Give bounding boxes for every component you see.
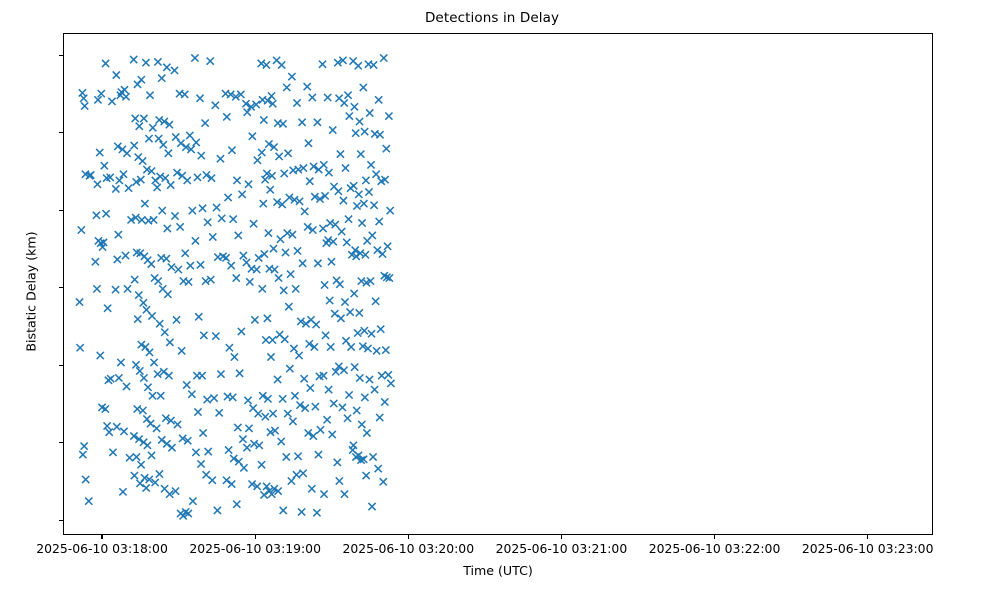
scatter-point — [96, 149, 103, 156]
scatter-point — [278, 438, 285, 445]
x-tick-mark — [255, 535, 256, 539]
scatter-point — [379, 250, 386, 257]
scatter-point — [328, 258, 335, 265]
scatter-point — [258, 149, 265, 156]
x-tick-label: 2025-06-10 03:20:00 — [342, 541, 474, 556]
scatter-point — [156, 470, 163, 477]
scatter-point — [350, 182, 357, 189]
scatter-point — [196, 95, 203, 102]
scatter-point — [184, 177, 191, 184]
scatter-point — [260, 200, 267, 207]
scatter-point — [161, 329, 168, 336]
scatter-point — [199, 205, 206, 212]
scatter-point — [336, 477, 343, 484]
y-tick-mark — [59, 210, 63, 211]
scatter-point — [171, 67, 178, 74]
scatter-point — [238, 328, 245, 335]
scatter-point — [361, 327, 368, 334]
scatter-point — [132, 361, 139, 368]
scatter-point — [173, 316, 180, 323]
scatter-point — [320, 161, 327, 168]
scatter-point — [387, 380, 394, 387]
scatter-point — [233, 501, 240, 508]
scatter-point — [204, 219, 211, 226]
scatter-point — [122, 252, 129, 259]
scatter-point — [155, 135, 162, 142]
scatter-point — [134, 315, 141, 322]
scatter-point — [217, 155, 224, 162]
scatter-point — [156, 320, 163, 327]
scatter-point — [280, 507, 287, 514]
scatter-point — [294, 453, 301, 460]
scatter-point — [160, 368, 167, 375]
scatter-point — [102, 60, 109, 67]
scatter-point — [368, 503, 375, 510]
scatter-point — [123, 383, 130, 390]
scatter-point — [131, 472, 138, 479]
scatter-point — [172, 133, 179, 140]
scatter-point — [305, 140, 312, 147]
scatter-point — [181, 91, 188, 98]
scatter-point — [383, 145, 390, 152]
scatter-point — [81, 443, 88, 450]
scatter-point — [104, 305, 111, 312]
scatter-point — [368, 330, 375, 337]
scatter-point — [382, 346, 389, 353]
scatter-point — [158, 436, 165, 443]
scatter-point — [269, 410, 276, 417]
scatter-point — [363, 472, 370, 479]
scatter-point — [361, 128, 368, 135]
scatter-point — [160, 141, 167, 148]
scatter-point — [321, 281, 328, 288]
scatter-point — [131, 142, 138, 149]
scatter-point — [314, 119, 321, 126]
scatter-point — [356, 309, 363, 316]
scatter-point — [103, 210, 110, 217]
scatter-point — [212, 102, 219, 109]
scatter-point — [167, 181, 174, 188]
scatter-point — [375, 465, 382, 472]
scatter-point — [228, 480, 235, 487]
scatter-point — [264, 315, 271, 322]
scatter-point — [370, 202, 377, 209]
scatter-point — [319, 61, 326, 68]
scatter-point — [291, 392, 298, 399]
scatter-point — [233, 274, 240, 281]
scatter-point — [345, 391, 352, 398]
scatter-point — [326, 297, 333, 304]
scatter-point — [259, 285, 266, 292]
scatter-point — [234, 424, 241, 431]
scatter-point — [131, 276, 138, 283]
scatter-point — [200, 332, 207, 339]
scatter-point — [154, 58, 161, 65]
scatter-point — [320, 491, 327, 498]
scatter-point — [123, 150, 130, 157]
scatter-point — [325, 386, 332, 393]
scatter-point — [358, 219, 365, 226]
scatter-point — [150, 359, 157, 366]
scatter-point — [276, 153, 283, 160]
x-tick-label: 2025-06-10 03:18:00 — [36, 541, 168, 556]
scatter-point — [293, 471, 300, 478]
scatter-point — [209, 233, 216, 240]
scatter-point — [92, 258, 99, 265]
scatter-point — [193, 139, 200, 146]
scatter-point — [93, 285, 100, 292]
scatter-point — [138, 76, 145, 83]
scatter-point — [213, 204, 220, 211]
scatter-point — [142, 59, 149, 66]
scatter-point — [79, 451, 86, 458]
scatter-point — [132, 115, 139, 122]
scatter-point — [353, 407, 360, 414]
scatter-point — [269, 336, 276, 343]
scatter-point — [235, 232, 242, 239]
scatter-point — [133, 453, 140, 460]
scatter-point — [174, 421, 181, 428]
scatter-point — [351, 290, 358, 297]
scatter-point — [126, 454, 133, 461]
scatter-point — [214, 507, 221, 514]
scatter-point — [122, 93, 129, 100]
scatter-point — [136, 367, 143, 374]
scatter-point — [279, 395, 286, 402]
scatter-point — [331, 310, 338, 317]
scatter-series — [76, 54, 395, 519]
y-tick-mark — [59, 442, 63, 443]
scatter-point — [340, 197, 347, 204]
scatter-point — [313, 509, 320, 516]
scatter-point — [343, 239, 350, 246]
scatter-point — [233, 177, 240, 184]
scatter-point — [124, 285, 131, 292]
scatter-point — [267, 353, 274, 360]
scatter-point — [301, 208, 308, 215]
scatter-point — [360, 84, 367, 91]
scatter-point — [80, 95, 87, 102]
scatter-point — [223, 113, 230, 120]
scatter-point — [385, 371, 392, 378]
scatter-point — [360, 200, 367, 207]
scatter-point — [148, 312, 155, 319]
scatter-point — [144, 384, 151, 391]
scatter-point — [115, 231, 122, 238]
scatter-point — [295, 352, 302, 359]
scatter-point — [243, 259, 250, 266]
scatter-point — [376, 218, 383, 225]
scatter-point — [143, 484, 150, 491]
scatter-point — [148, 452, 155, 459]
scatter-point — [216, 409, 223, 416]
scatter-point — [279, 120, 286, 127]
scatter-point — [218, 215, 225, 222]
scatter-point — [191, 54, 198, 61]
scatter-point — [143, 415, 150, 422]
scatter-point — [258, 461, 265, 468]
scatter-point — [198, 372, 205, 379]
scatter-point — [277, 236, 284, 243]
scatter-point — [76, 298, 83, 305]
x-tick-label: 2025-06-10 03:23:00 — [802, 541, 934, 556]
scatter-point — [324, 416, 331, 423]
scatter-point — [283, 453, 290, 460]
scatter-point — [186, 132, 193, 139]
scatter-point — [81, 102, 88, 109]
scatter-point — [147, 420, 154, 427]
scatter-point — [372, 298, 379, 305]
scatter-point — [249, 133, 256, 140]
scatter-point — [210, 395, 217, 402]
scatter-point — [204, 396, 211, 403]
scatter-point — [380, 478, 387, 485]
scatter-point — [117, 359, 124, 366]
scatter-point — [373, 347, 380, 354]
scatter-point — [246, 278, 253, 285]
scatter-point — [119, 488, 126, 495]
scatter-point — [164, 225, 171, 232]
y-tick-mark — [59, 365, 63, 366]
scatter-point — [113, 423, 120, 430]
scatter-point — [357, 150, 364, 157]
scatter-point — [154, 184, 161, 191]
scatter-point — [313, 321, 320, 328]
matplotlib-figure: Detections in Delay 2025-06-10 03:18:002… — [0, 0, 984, 590]
scatter-point — [274, 376, 281, 383]
scatter-point — [336, 281, 343, 288]
scatter-point — [245, 425, 252, 432]
scatter-point — [369, 453, 376, 460]
scatter-point — [253, 266, 260, 273]
scatter-point — [355, 62, 362, 69]
scatter-point — [262, 336, 269, 343]
scatter-point — [189, 498, 196, 505]
scatter-point — [212, 333, 219, 340]
scatter-point — [150, 216, 157, 223]
scatter-point — [164, 291, 171, 298]
scatter-point — [168, 444, 175, 451]
scatter-point — [378, 372, 385, 379]
scatter-point — [125, 185, 132, 192]
scatter-point — [146, 349, 153, 356]
scatter-point — [188, 391, 195, 398]
scatter-point — [141, 200, 148, 207]
scatter-point — [351, 103, 358, 110]
scatter-point — [97, 352, 104, 359]
scatter-point — [209, 477, 216, 484]
x-tick-mark — [867, 535, 868, 539]
scatter-point — [327, 343, 334, 350]
scatter-point — [325, 169, 332, 176]
scatter-point — [370, 61, 377, 68]
y-tick-mark — [59, 287, 63, 288]
scatter-point — [283, 84, 290, 91]
scatter-point — [136, 123, 143, 130]
scatter-point — [324, 94, 331, 101]
x-tick-label: 2025-06-10 03:22:00 — [649, 541, 781, 556]
scatter-point — [353, 202, 360, 209]
scatter-point — [287, 271, 294, 278]
scatter-point — [262, 176, 269, 183]
scatter-point — [387, 207, 394, 214]
scatter-point — [240, 252, 247, 259]
scatter-point — [323, 240, 330, 247]
scatter-point — [308, 485, 315, 492]
x-tick-mark — [714, 535, 715, 539]
scatter-point — [292, 285, 299, 292]
scatter-point — [294, 247, 301, 254]
scatter-point — [138, 216, 145, 223]
scatter-point — [280, 287, 287, 294]
y-axis-label: Bistatic Delay (km) — [24, 182, 39, 402]
scatter-point — [199, 429, 206, 436]
scatter-point — [225, 446, 232, 453]
scatter-point — [207, 58, 214, 65]
scatter-point — [192, 237, 199, 244]
scatter-point — [239, 191, 246, 198]
scatter-point — [341, 298, 348, 305]
scatter-point — [335, 188, 342, 195]
scatter-point — [293, 99, 300, 106]
scatter-point — [300, 470, 307, 477]
scatter-point — [130, 56, 137, 63]
scatter-point — [337, 150, 344, 157]
scatter-point — [346, 309, 353, 316]
scatter-point — [361, 394, 368, 401]
x-axis-label: Time (UTC) — [63, 563, 933, 578]
scatter-point — [171, 212, 178, 219]
scatter-point — [144, 442, 151, 449]
scatter-point — [371, 386, 378, 393]
scatter-point — [284, 410, 291, 417]
scatter-point — [240, 464, 247, 471]
scatter-point — [317, 426, 324, 433]
scatter-point — [354, 329, 361, 336]
scatter-point — [108, 98, 115, 105]
scatter-point — [315, 451, 322, 458]
scatter-point — [355, 191, 362, 198]
scatter-point — [217, 370, 224, 377]
scatter-point — [154, 370, 161, 377]
scatter-point — [153, 425, 160, 432]
x-tick-label: 2025-06-10 03:21:00 — [496, 541, 628, 556]
scatter-point — [265, 229, 272, 236]
scatter-point — [288, 477, 295, 484]
scatter-point — [385, 113, 392, 120]
scatter-point — [107, 375, 114, 382]
scatter-point — [339, 404, 346, 411]
scatter-point — [197, 261, 204, 268]
scatter-point — [139, 157, 146, 164]
scatter-point — [285, 303, 292, 310]
scatter-point — [290, 345, 297, 352]
scatter-point — [229, 394, 236, 401]
scatter-point — [307, 384, 314, 391]
scatter-points-layer — [64, 34, 934, 536]
scatter-point — [137, 461, 144, 468]
scatter-point — [115, 374, 122, 381]
scatter-point — [155, 278, 162, 285]
scatter-point — [262, 413, 269, 420]
scatter-point — [275, 274, 282, 281]
scatter-point — [245, 181, 252, 188]
scatter-point — [101, 162, 108, 169]
x-tick-mark — [408, 535, 409, 539]
scatter-point — [78, 226, 85, 233]
scatter-point — [149, 392, 156, 399]
scatter-point — [120, 171, 127, 178]
scatter-point — [187, 262, 194, 269]
scatter-point — [192, 449, 199, 456]
scatter-point — [312, 403, 319, 410]
scatter-point — [254, 157, 261, 164]
scatter-point — [251, 316, 258, 323]
scatter-point — [114, 256, 121, 263]
scatter-point — [104, 422, 111, 429]
scatter-point — [185, 278, 192, 285]
scatter-point — [281, 170, 288, 177]
scatter-point — [165, 150, 172, 157]
scatter-point — [341, 491, 348, 498]
scatter-point — [352, 130, 359, 137]
scatter-point — [93, 212, 100, 219]
scatter-point — [346, 113, 353, 120]
scatter-point — [94, 181, 101, 188]
scatter-point — [356, 374, 363, 381]
scatter-point — [384, 243, 391, 250]
scatter-point — [322, 332, 329, 339]
scatter-point — [363, 429, 370, 436]
scatter-point — [344, 92, 351, 99]
scatter-point — [163, 255, 170, 262]
scatter-point — [350, 442, 357, 449]
plot-area — [63, 33, 933, 535]
scatter-point — [163, 64, 170, 71]
scatter-point — [202, 119, 209, 126]
scatter-point — [159, 207, 166, 214]
scatter-point — [260, 491, 267, 498]
page-title: Detections in Delay — [0, 10, 984, 26]
scatter-point — [369, 232, 376, 239]
scatter-point — [148, 260, 155, 267]
scatter-point — [288, 73, 295, 80]
scatter-point — [329, 431, 336, 438]
scatter-point — [145, 135, 152, 142]
scatter-point — [351, 364, 358, 371]
scatter-point — [367, 161, 374, 168]
scatter-point — [113, 71, 120, 78]
scatter-point — [278, 61, 285, 68]
scatter-point — [139, 407, 146, 414]
scatter-point — [376, 131, 383, 138]
scatter-point — [319, 225, 326, 232]
scatter-point — [304, 83, 311, 90]
scatter-point — [231, 353, 238, 360]
scatter-point — [198, 152, 205, 159]
scatter-point — [338, 228, 345, 235]
scatter-point — [163, 440, 170, 447]
scatter-point — [228, 147, 235, 154]
scatter-point — [120, 428, 127, 435]
scatter-point — [106, 429, 113, 436]
scatter-point — [197, 460, 204, 467]
scatter-point — [135, 291, 142, 298]
scatter-point — [195, 313, 202, 320]
scatter-point — [298, 508, 305, 515]
scatter-point — [85, 498, 92, 505]
scatter-point — [286, 365, 293, 372]
